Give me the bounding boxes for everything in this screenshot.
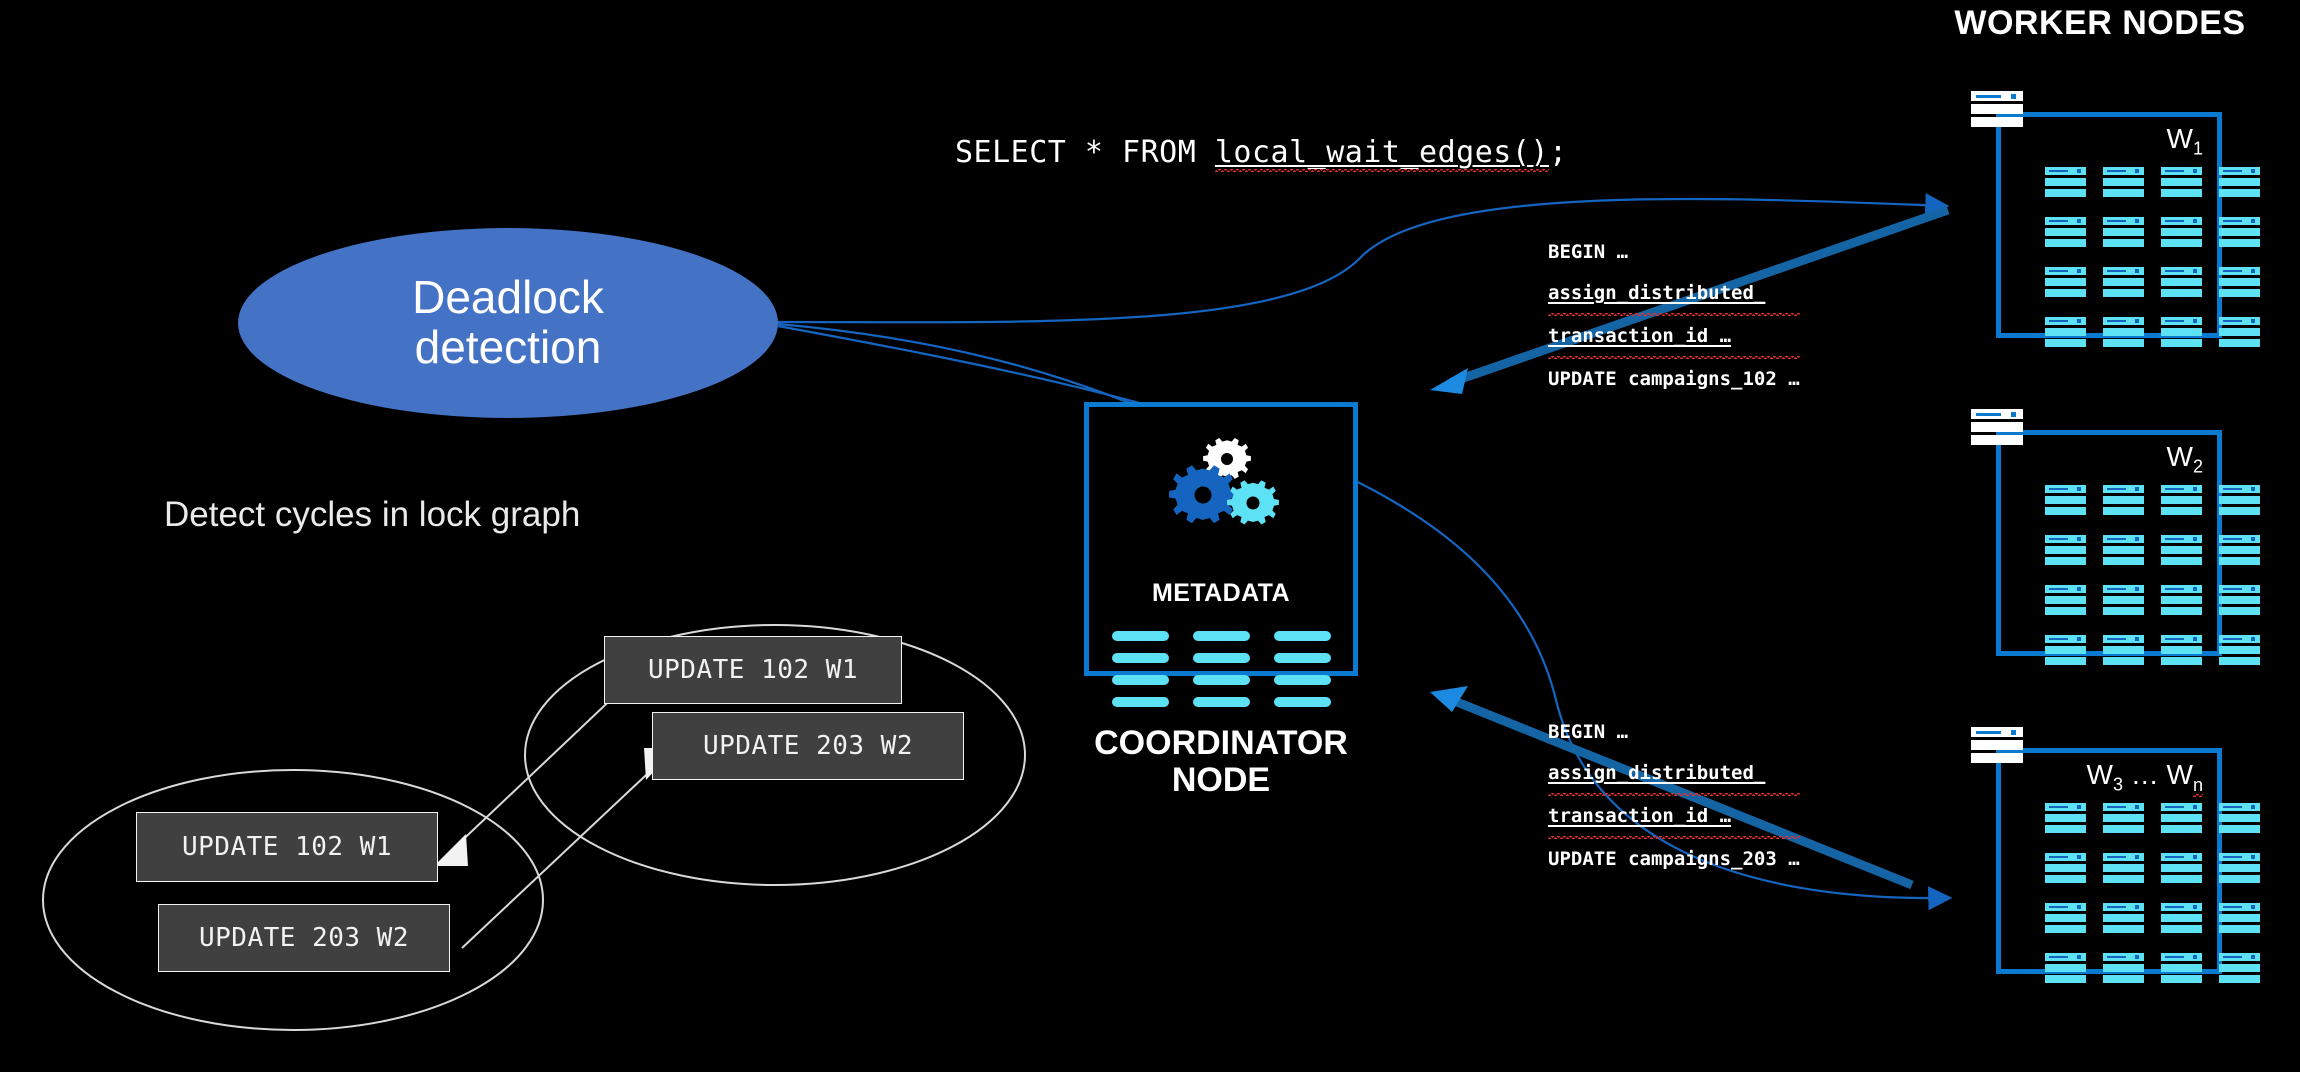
shard-icon <box>2045 167 2086 200</box>
metadata-bar <box>1193 631 1250 641</box>
metadata-column <box>1112 631 1169 707</box>
lock-node-box-update-102-w1-right[interactable]: UPDATE 102 W1 <box>604 636 902 704</box>
shard-icon <box>2045 317 2086 350</box>
server-icon-bar-bottom <box>1971 753 2023 763</box>
server-icon-bar-bottom <box>1971 117 2023 127</box>
txn-203-line-update: UPDATE campaigns_203 … <box>1548 839 1800 880</box>
server-icon <box>1971 409 2023 448</box>
shard-icon <box>2103 217 2144 250</box>
shard-icon <box>2161 267 2202 300</box>
shard-icon <box>2103 853 2144 886</box>
server-icon-bar-mid <box>1971 104 2023 114</box>
shard-icon <box>2219 217 2260 250</box>
shard-icon <box>2219 853 2260 886</box>
metadata-bar <box>1193 675 1250 685</box>
worker-node-w1-label: W1 <box>2167 123 2203 160</box>
worker-nodes-heading: WORKER NODES <box>1930 4 2270 43</box>
shard-icon <box>2161 217 2202 250</box>
shard-icon <box>2045 267 2086 300</box>
coordinator-heading-line1: COORDINATOR <box>1021 725 1421 762</box>
coordinator-node[interactable]: METADATA <box>1084 402 1358 676</box>
shard-grid <box>2045 485 2260 668</box>
metadata-bar <box>1112 697 1169 707</box>
shard-icon <box>2161 317 2202 350</box>
metadata-bar <box>1274 697 1331 707</box>
arrowhead-w1-to-coordinator <box>1430 368 1468 394</box>
txn-102-line-assign: assign_distributed_ <box>1548 273 1800 316</box>
lock-graph-caption: Detect cycles in lock graph <box>164 495 580 535</box>
shard-icon <box>2103 267 2144 300</box>
shard-icon <box>2103 803 2144 836</box>
coordinator-node-heading: COORDINATOR NODE <box>1021 725 1421 798</box>
shard-icon <box>2161 635 2202 668</box>
txn-102-line-update: UPDATE campaigns_102 … <box>1548 359 1800 400</box>
shard-icon <box>2045 535 2086 568</box>
shard-icon <box>2219 167 2260 200</box>
server-icon-bar-mid <box>1971 740 2023 750</box>
shard-icon <box>2219 953 2260 986</box>
shard-icon <box>2103 317 2144 350</box>
shard-icon <box>2045 585 2086 618</box>
txn-203-line-begin: BEGIN … <box>1548 712 1800 753</box>
shard-icon <box>2103 167 2144 200</box>
deadlock-detection-label: Deadlock detection <box>412 273 604 372</box>
shard-icon <box>2219 535 2260 568</box>
worker-node-w3-wn[interactable]: W3 … Wn <box>1996 748 2222 974</box>
lock-graph-ellipse-left <box>43 770 543 1030</box>
shard-icon <box>2161 953 2202 986</box>
gears-icon <box>1149 429 1309 539</box>
txn-203-line-txid: transaction_id … <box>1548 796 1800 839</box>
shard-icon <box>2161 903 2202 936</box>
worker-node-w2[interactable]: W2 <box>1996 430 2222 656</box>
shard-icon <box>2161 167 2202 200</box>
shard-icon <box>2045 803 2086 836</box>
shard-icon <box>2161 803 2202 836</box>
shard-icon <box>2161 535 2202 568</box>
sql-suffix: ; <box>1549 135 1568 170</box>
cycle-arrowhead-left <box>434 834 468 866</box>
shard-icon <box>2045 903 2086 936</box>
shard-icon <box>2045 485 2086 518</box>
shard-icon <box>2103 635 2144 668</box>
shard-icon <box>2219 635 2260 668</box>
shard-icon <box>2219 903 2260 936</box>
shard-icon <box>2045 635 2086 668</box>
shard-icon <box>2219 585 2260 618</box>
worker-node-w3-wn-label: W3 … Wn <box>2087 759 2203 796</box>
shard-icon <box>2045 217 2086 250</box>
shard-grid <box>2045 803 2260 986</box>
deadlock-label-line2: detection <box>412 323 604 373</box>
server-icon-bar-top <box>1971 409 2023 419</box>
shard-icon <box>2161 853 2202 886</box>
lock-node-box-update-203-w2-left[interactable]: UPDATE 203 W2 <box>158 904 450 972</box>
metadata-column <box>1274 631 1331 707</box>
server-icon <box>1971 91 2023 130</box>
shard-icon <box>2161 585 2202 618</box>
txn-102-line-begin: BEGIN … <box>1548 232 1800 273</box>
metadata-column <box>1193 631 1250 707</box>
server-icon-bar-top <box>1971 727 2023 737</box>
sql-prefix: SELECT * FROM <box>955 135 1215 170</box>
coordinator-heading-line2: NODE <box>1021 762 1421 799</box>
deadlock-detection-node[interactable]: Deadlock detection <box>238 228 778 418</box>
shard-icon <box>2219 267 2260 300</box>
cycle-arrow-left-to-right <box>462 762 660 948</box>
metadata-bar <box>1193 653 1250 663</box>
metadata-bar <box>1274 631 1331 641</box>
shard-icon <box>2161 485 2202 518</box>
shard-grid <box>2045 167 2260 350</box>
shard-icon <box>2219 803 2260 836</box>
deadlock-label-line1: Deadlock <box>412 273 604 323</box>
sql-statement: SELECT * FROM local_wait_edges(); <box>955 135 1568 170</box>
shard-icon <box>2045 853 2086 886</box>
metadata-bar <box>1274 675 1331 685</box>
transaction-block-102: BEGIN … assign_distributed_ transaction_… <box>1548 232 1800 400</box>
txn-102-line-txid: transaction_id … <box>1548 316 1800 359</box>
server-icon-bar-mid <box>1971 422 2023 432</box>
gear-right-cyan <box>1227 480 1279 524</box>
transaction-block-203: BEGIN … assign_distributed_ transaction_… <box>1548 712 1800 880</box>
txn-203-line-assign: assign_distributed_ <box>1548 753 1800 796</box>
lock-node-box-update-102-w1-left[interactable]: UPDATE 102 W1 <box>136 812 438 882</box>
metadata-bar <box>1112 675 1169 685</box>
shard-icon <box>2045 953 2086 986</box>
worker-node-w1[interactable]: W1 <box>1996 112 2222 338</box>
server-icon <box>1971 727 2023 766</box>
sql-function-name: local_wait_edges() <box>1215 135 1549 172</box>
shard-icon <box>2103 903 2144 936</box>
metadata-bar <box>1112 631 1169 641</box>
shard-icon <box>2103 953 2144 986</box>
lock-node-box-update-203-w2-right[interactable]: UPDATE 203 W2 <box>652 712 964 780</box>
metadata-bar <box>1193 697 1250 707</box>
metadata-bar-grid <box>1089 631 1353 707</box>
slide-canvas: WORKER NODES SELECT * FROM local_wait_ed… <box>0 0 2300 1072</box>
server-icon-bar-top <box>1971 91 2023 101</box>
shard-icon <box>2103 585 2144 618</box>
metadata-label: METADATA <box>1089 579 1353 608</box>
shard-icon <box>2219 485 2260 518</box>
metadata-bar <box>1112 653 1169 663</box>
shard-icon <box>2103 535 2144 568</box>
shard-icon <box>2219 317 2260 350</box>
worker-node-w2-label: W2 <box>2167 441 2203 478</box>
server-icon-bar-bottom <box>1971 435 2023 445</box>
metadata-bar <box>1274 653 1331 663</box>
shard-icon <box>2103 485 2144 518</box>
